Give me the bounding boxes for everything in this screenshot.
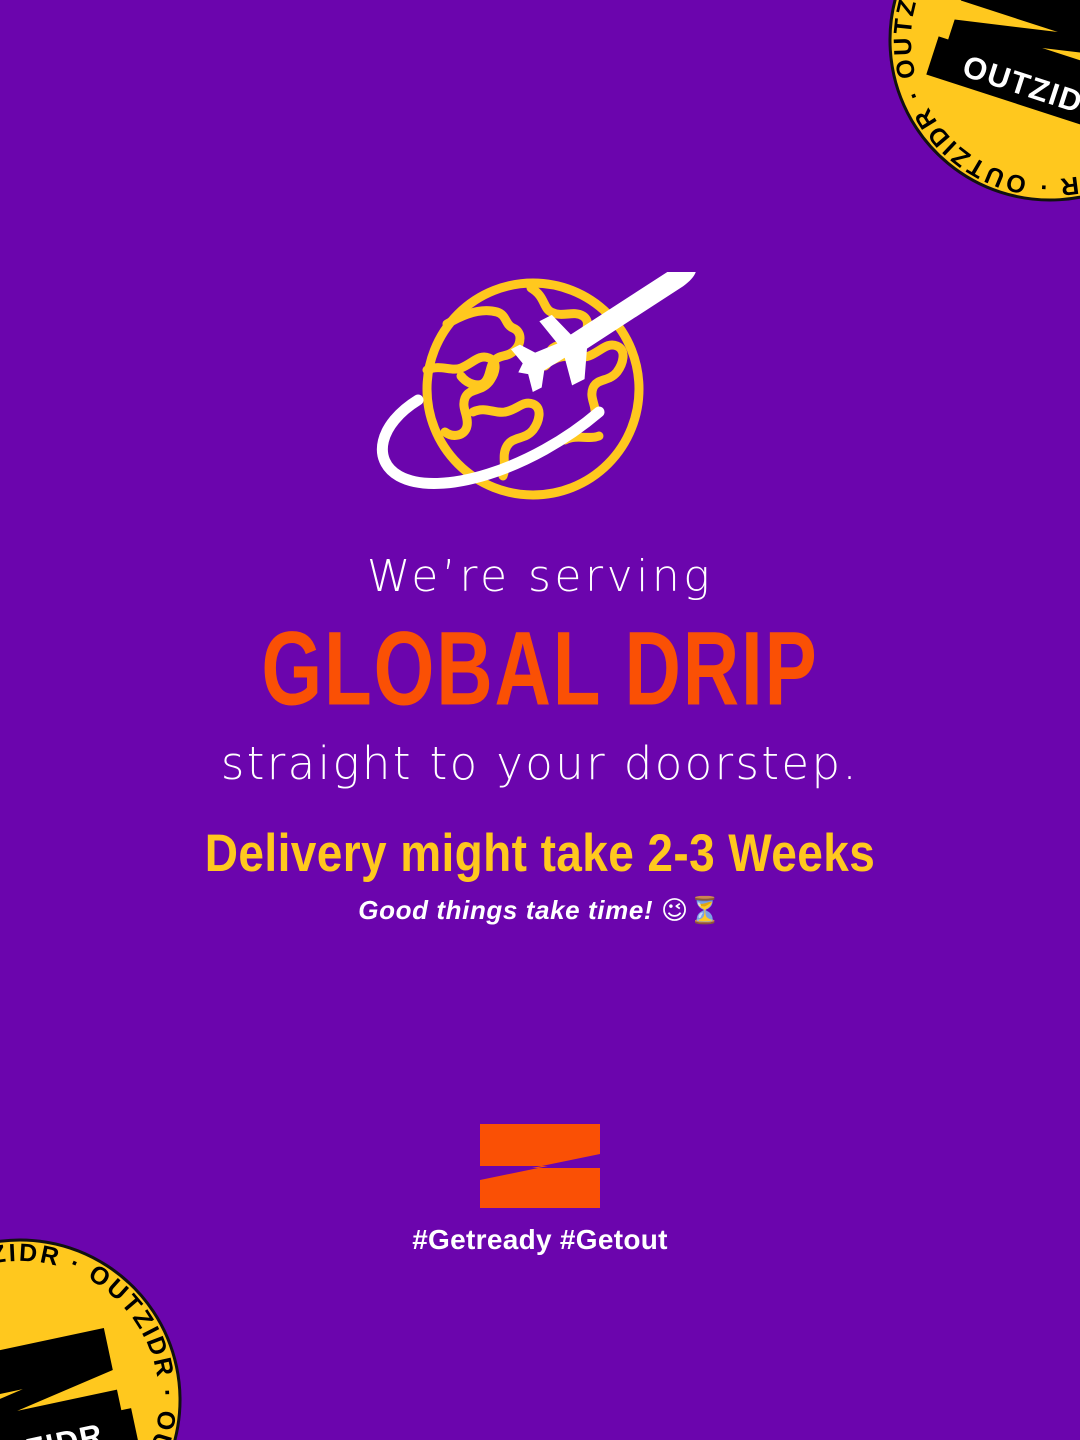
badge-wordmark: OUTZIDR xyxy=(0,1408,139,1440)
footer-hashtags: #Getready #Getout xyxy=(0,1224,1080,1256)
badge-svg: OUTZIDR · OUTZIDR · OUTZIDR · OUTZIDR · … xyxy=(0,1235,185,1440)
outzidr-badge-bottom-left: OUTZIDR · OUTZIDR · OUTZIDR · OUTZIDR · … xyxy=(0,1235,185,1440)
badge-circle xyxy=(0,1235,185,1440)
headline-line-doorstep: straight to your doorstep. xyxy=(0,734,1080,794)
poster-canvas: OUTZIDR · OUTZIDR · OUTZIDR · OUTZIDR · … xyxy=(0,0,1080,1440)
svg-text:OUTZIDR: OUTZIDR xyxy=(0,1417,107,1440)
hourglass-icon: ⏳ xyxy=(689,896,722,926)
badge-z-logo xyxy=(941,0,1080,120)
badge-ring-text: OUTZIDR · OUTZIDR · OUTZIDR · OUTZIDR · … xyxy=(885,0,1080,205)
delivery-subtext-label: Good things take time! xyxy=(358,895,653,925)
badge-svg: OUTZIDR · OUTZIDR · OUTZIDR · OUTZIDR · … xyxy=(885,0,1080,205)
delivery-notice-block: Delivery might take 2-3 Weeks Good thing… xyxy=(0,818,1080,929)
globe-svg xyxy=(355,272,715,512)
badge-ring-text: OUTZIDR · OUTZIDR · OUTZIDR · OUTZIDR · … xyxy=(0,1235,185,1440)
outzidr-z-logo xyxy=(478,1122,602,1210)
badge-z-logo xyxy=(0,1328,126,1440)
headline-block: We’re serving GLOBAL DRIP straight to yo… xyxy=(0,546,1080,794)
globe-airplane-illustration xyxy=(355,272,715,512)
badge-circle xyxy=(885,0,1080,205)
footer-block: #Getready #Getout xyxy=(0,1122,1080,1256)
winking-face-icon: 😉 xyxy=(661,896,689,926)
headline-line-global-drip: GLOBAL DRIP xyxy=(38,603,1042,733)
badge-wordmark: OUTZIDR xyxy=(926,36,1080,140)
svg-text:OUTZIDR: OUTZIDR xyxy=(958,48,1080,127)
outzidr-badge-top-right: OUTZIDR · OUTZIDR · OUTZIDR · OUTZIDR · … xyxy=(885,0,1080,205)
delivery-estimate-text: Delivery might take 2-3 Weeks xyxy=(0,818,1080,887)
delivery-subtext: Good things take time! 😉⏳ xyxy=(0,892,1080,929)
headline-line-serving: We’re serving xyxy=(0,546,1080,608)
